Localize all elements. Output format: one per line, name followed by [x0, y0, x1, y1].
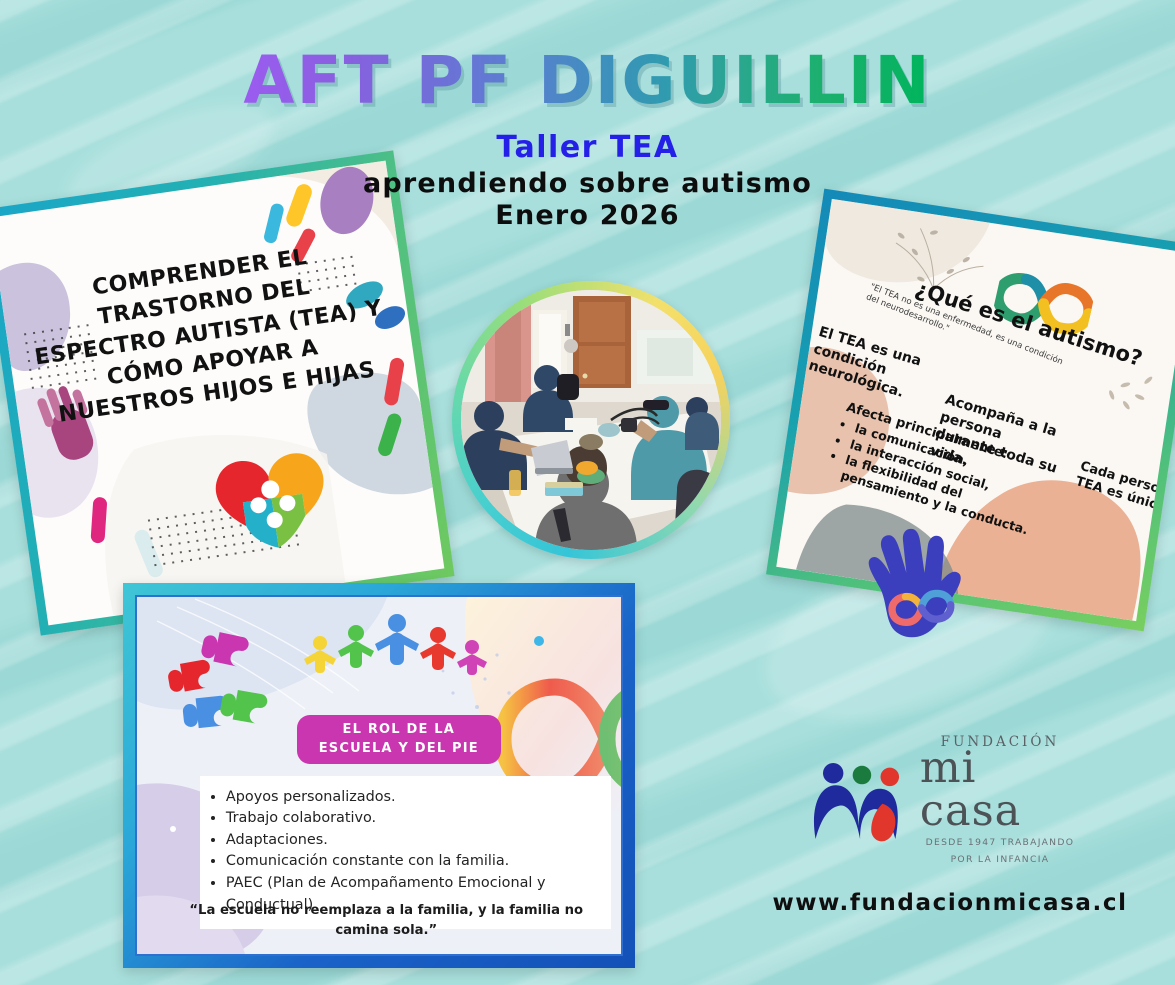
workshop-photo-image [461, 290, 721, 550]
foundation-logo: FUNDACIÓN mi casa DESDE 1947 TRABAJANDO … [810, 755, 1080, 847]
logo-micasa-text: mi casa [920, 747, 1080, 833]
poster-canvas: AFT PF DIGUILLIN Taller TEA aprendiendo … [0, 0, 1175, 985]
logo-mark-icon [810, 758, 914, 844]
list-item: Apoyos personalizados. [226, 787, 611, 809]
workshop-photo-ring[interactable] [452, 281, 730, 559]
subtitle-taller: Taller TEA [0, 130, 1175, 165]
list-item: Trabajo colaborativo. [226, 808, 611, 830]
puzzle-heart-icon [206, 440, 338, 560]
hand-infinity-icon [852, 528, 977, 648]
subtitle-description: aprendiendo sobre autismo [0, 168, 1175, 199]
list-item: Comunicación constante con la familia. [226, 851, 611, 873]
header-block: AFT PF DIGUILLIN Taller TEA aprendiendo … [0, 48, 1175, 231]
subtitle-date: Enero 2026 [0, 200, 1175, 231]
badge-line-2: ESCUELA Y DEL PIE [319, 740, 479, 759]
bullet-list: Apoyos personalizados. Trabajo colaborat… [226, 787, 611, 917]
slide-rol-content: EL ROL DE LA ESCUELA Y DEL PIE Apoyos pe… [135, 595, 623, 956]
logo-tagline-1: DESDE 1947 TRABAJANDO [920, 836, 1080, 849]
slide-rol-escuela[interactable]: EL ROL DE LA ESCUELA Y DEL PIE Apoyos pe… [123, 583, 635, 968]
badge-line-1: EL ROL DE LA [319, 721, 479, 740]
badge-rol-escuela: EL ROL DE LA ESCUELA Y DEL PIE [297, 715, 501, 765]
list-item: Adaptaciones. [226, 830, 611, 852]
workshop-photo [461, 290, 721, 550]
logo-wordmark: FUNDACIÓN mi casa DESDE 1947 TRABAJANDO … [920, 736, 1080, 866]
website-url[interactable]: www.fundacionmicasa.cl [770, 890, 1130, 916]
page-title: AFT PF DIGUILLIN [243, 48, 931, 114]
people-figures-icon [302, 613, 492, 675]
slide-rol-quote: “La escuela no reemplaza a la familia, y… [176, 901, 597, 939]
logo-tagline-2: POR LA INFANCIA [920, 853, 1080, 866]
